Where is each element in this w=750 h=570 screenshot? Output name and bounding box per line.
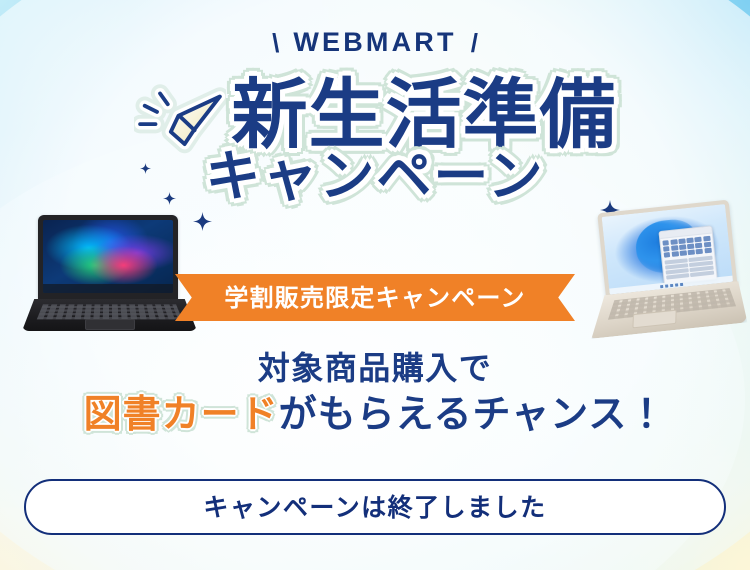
laptop-screen — [602, 204, 733, 295]
campaign-ended-button[interactable]: キャンペーンは終了しました — [24, 479, 726, 535]
start-menu-overlay — [658, 226, 717, 285]
brand-slash-right: / — [471, 30, 478, 56]
offer-message-line2: 図書カードがもらえるチャンス！ — [0, 390, 750, 439]
offer-rest-text: がもらえるチャンス！ — [279, 392, 667, 436]
laptop-keyboard — [37, 304, 182, 319]
campaign-ribbon: 学割販売限定キャンペーン — [175, 274, 575, 321]
brand-name: WEBMART — [293, 29, 456, 56]
hero-title-line2: キャンペーン — [205, 148, 544, 204]
campaign-ended-label: キャンペーンは終了しました — [203, 495, 546, 520]
hero-title-line1: 新生活準備 — [232, 76, 617, 154]
black-laptop-image — [22, 215, 197, 335]
laptop-screen — [43, 220, 173, 293]
hero-title: 新生活準備 キャンペーン — [0, 76, 750, 204]
brand-header: \ WEBMART / — [0, 29, 750, 56]
brand-slash-left: \ — [272, 30, 279, 56]
megaphone-icon — [134, 79, 226, 157]
laptop-lid — [38, 215, 178, 301]
silver-laptop-image — [582, 205, 742, 345]
offer-message: 対象商品購入で 図書カードがもらえるチャンス！ — [0, 348, 750, 439]
laptop-touchpad — [85, 319, 135, 330]
offer-message-line1: 対象商品購入で — [0, 348, 750, 388]
offer-highlight-text: 図書カード — [84, 392, 279, 436]
campaign-ribbon-label: 学割販売限定キャンペーン — [224, 286, 525, 310]
campaign-banner: \ WEBMART / — [0, 0, 750, 570]
